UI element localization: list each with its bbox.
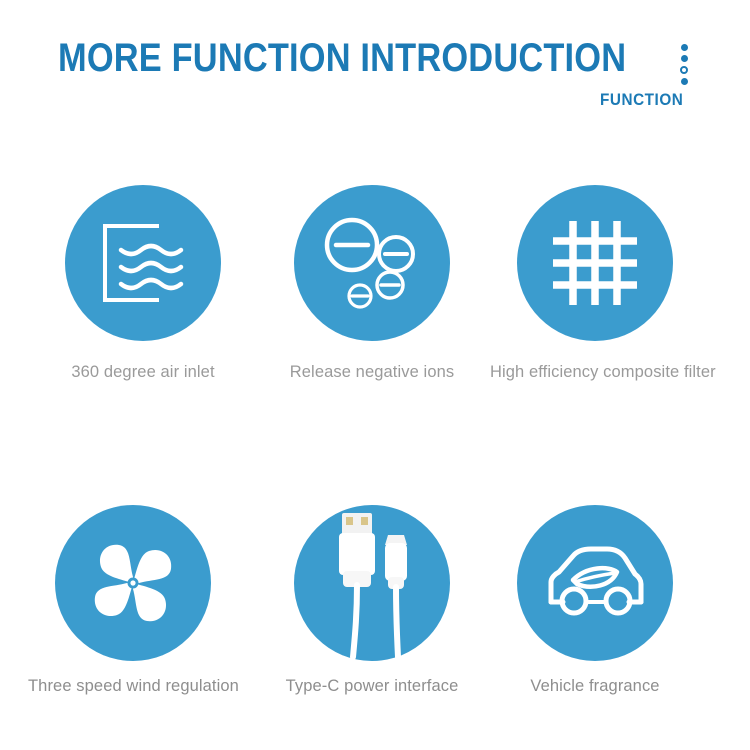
colon-dot-4 [681, 78, 688, 85]
car-leaf-fragrance-icon [543, 544, 647, 622]
feature-caption: High efficiency composite filter [490, 363, 700, 382]
feature-caption: Vehicle fragrance [490, 677, 700, 696]
feature-card-wind-regulation: Three speed wind regulation [28, 505, 238, 696]
fan-blade-icon [83, 533, 183, 633]
colon-dots-icon [678, 44, 690, 84]
composite-filter-grid-icon [549, 217, 641, 309]
colon-dot-2 [681, 55, 688, 62]
page-title: MORE FUNCTION INTRODUCTION [58, 38, 626, 78]
air-inlet-icon [95, 220, 191, 306]
page-title-row: MORE FUNCTION INTRODUCTION [58, 38, 719, 78]
colon-dot-1 [681, 44, 688, 51]
feature-caption: Type-C power interface [267, 677, 477, 696]
negative-ions-icon [320, 213, 424, 313]
usb-type-c-cable-icon [312, 505, 432, 661]
feature-card-type-c-power: Type-C power interface [267, 505, 477, 696]
feature-icon-circle [294, 505, 450, 661]
feature-card-negative-ions: Release negative ions [267, 185, 477, 382]
feature-card-vehicle-fragrance: Vehicle fragrance [490, 505, 700, 696]
feature-card-air-inlet: 360 degree air inlet [38, 185, 248, 382]
feature-icon-circle [55, 505, 211, 661]
feature-icon-circle [294, 185, 450, 341]
feature-icon-circle [517, 185, 673, 341]
page-header: MORE FUNCTION INTRODUCTION FUNCTION [0, 0, 750, 130]
feature-caption: Release negative ions [267, 363, 477, 382]
colon-dot-ring [680, 66, 688, 74]
feature-caption: 360 degree air inlet [38, 363, 248, 382]
feature-icon-circle [65, 185, 221, 341]
feature-card-composite-filter: High efficiency composite filter [490, 185, 700, 382]
feature-icon-circle [517, 505, 673, 661]
feature-caption: Three speed wind regulation [28, 677, 238, 696]
page-subtitle: FUNCTION [600, 90, 683, 110]
